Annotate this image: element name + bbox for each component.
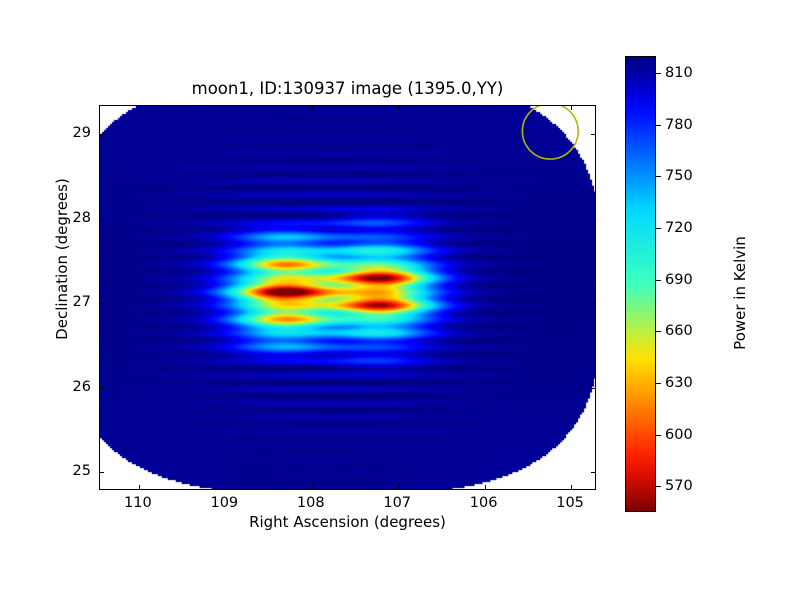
y-tick-right: [591, 134, 595, 135]
x-tick-label: 110: [124, 495, 152, 511]
y-tick: [100, 472, 104, 473]
x-tick-top: [398, 106, 399, 110]
colorbar-tick-label: 720: [665, 220, 693, 236]
x-tick: [312, 485, 313, 489]
colorbar-tick-label: 690: [665, 272, 693, 288]
x-tick: [139, 485, 140, 489]
x-tick-top: [139, 106, 140, 110]
colorbar-tick-label: 780: [665, 117, 693, 133]
y-tick: [100, 134, 104, 135]
figure-canvas: moon1, ID:130937 image (1395.0,YY) 11010…: [0, 0, 800, 600]
x-tick-label: 107: [383, 495, 411, 511]
annotation-overlay: [100, 106, 595, 489]
x-tick-top: [571, 106, 572, 110]
colorbar-tick-label: 810: [665, 65, 693, 81]
x-tick: [398, 485, 399, 489]
colorbar-tick: [656, 486, 661, 487]
y-tick-label: 25: [57, 463, 91, 479]
x-axis-label: Right Ascension (degrees): [99, 513, 596, 531]
colorbar-tick: [656, 435, 661, 436]
y-tick-label: 26: [57, 379, 91, 395]
y-tick-right: [591, 472, 595, 473]
colorbar-tick: [656, 228, 661, 229]
colorbar-tick-label: 660: [665, 323, 693, 339]
y-tick-label: 29: [57, 125, 91, 141]
colorbar-tick: [656, 73, 661, 74]
colorbar-tick: [656, 331, 661, 332]
colorbar-tick-label: 630: [665, 375, 693, 391]
colorbar-tick: [656, 383, 661, 384]
y-tick: [100, 219, 104, 220]
colorbar-label: Power in Kelvin: [731, 173, 749, 413]
x-tick-label: 106: [470, 495, 498, 511]
x-tick-top: [485, 106, 486, 110]
y-tick-right: [591, 303, 595, 304]
y-tick: [100, 303, 104, 304]
x-tick-label: 108: [297, 495, 325, 511]
colorbar: [625, 56, 656, 512]
x-tick: [225, 485, 226, 489]
x-tick-label: 105: [556, 495, 584, 511]
colorbar-tick: [656, 280, 661, 281]
plot-axes[interactable]: [99, 105, 596, 490]
colorbar-tick-label: 600: [665, 427, 693, 443]
x-tick: [485, 485, 486, 489]
moon-disc-marker-icon: [522, 106, 578, 159]
colorbar-gradient: [625, 56, 656, 512]
colorbar-tick-label: 750: [665, 168, 693, 184]
y-tick-right: [591, 219, 595, 220]
x-tick: [571, 485, 572, 489]
y-tick: [100, 388, 104, 389]
x-tick-label: 109: [210, 495, 238, 511]
colorbar-tick-label: 570: [665, 478, 693, 494]
x-tick-top: [225, 106, 226, 110]
x-tick-top: [312, 106, 313, 110]
colorbar-tick: [656, 125, 661, 126]
y-tick-right: [591, 388, 595, 389]
page-title: moon1, ID:130937 image (1395.0,YY): [99, 79, 596, 98]
y-axis-label: Declination (degrees): [53, 159, 71, 359]
colorbar-tick: [656, 176, 661, 177]
